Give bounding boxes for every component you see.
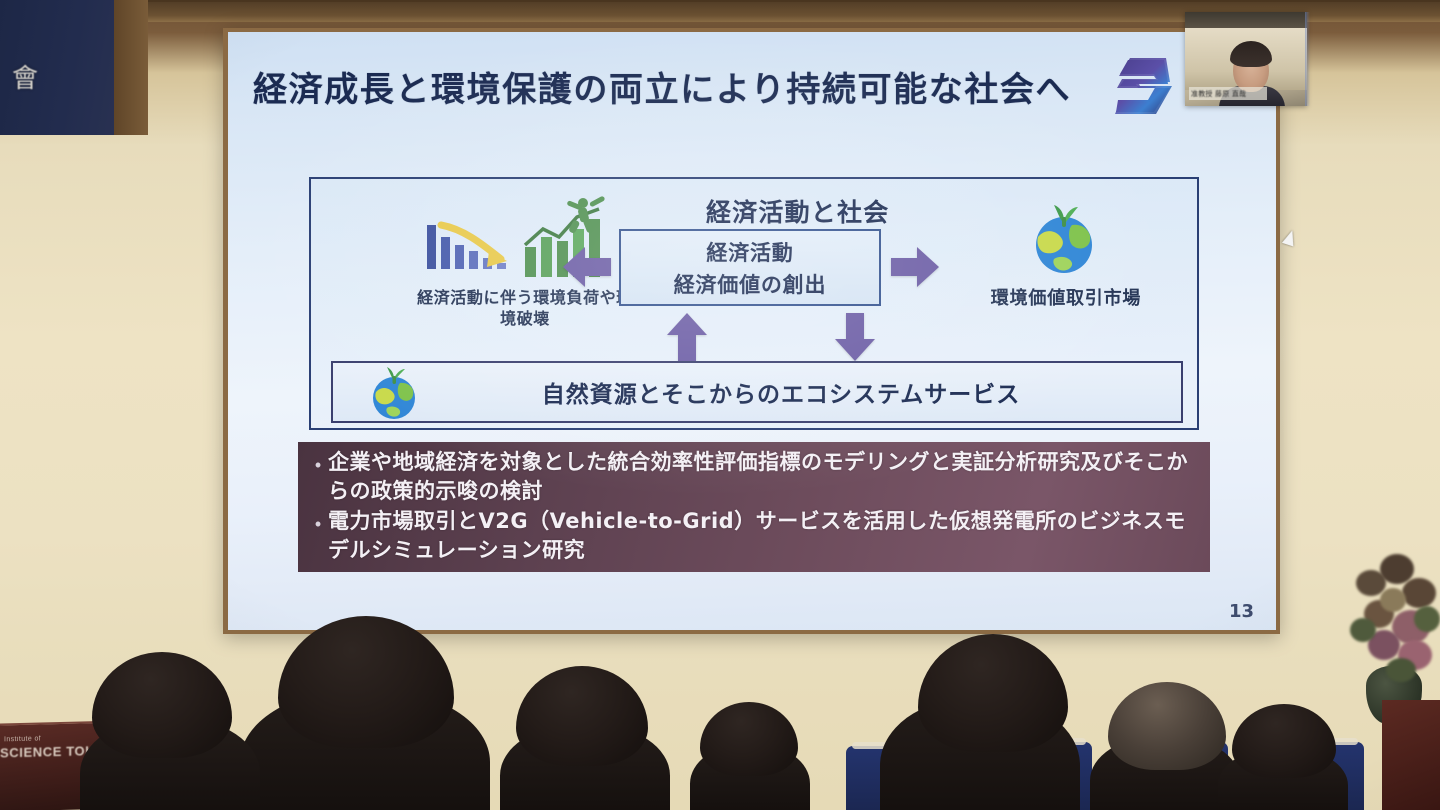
audience-head (1108, 682, 1226, 770)
earth-sprout-icon (1026, 197, 1102, 277)
arrow-right-icon (889, 243, 941, 291)
audience-row (0, 620, 1440, 810)
venue-banner: 會 (0, 0, 126, 135)
diagram-section-heading: 経済活動と社会 (706, 193, 889, 229)
natural-resources-text: 自然資源とそこからのエコシステムサービス (421, 375, 1181, 409)
arrow-up-icon (663, 311, 711, 363)
bullet-marker: • (308, 507, 328, 533)
slide-title: 経済成長と環境保護の両立により持続可能な社会へ (253, 70, 1071, 110)
left-icons-caption: 経済活動に伴う環境負荷や環境破壊 (411, 287, 639, 330)
slide-page-number: 13 (1229, 601, 1254, 622)
bullet-text: 企業や地域経済を対象とした統合効率性評価指標のモデリングと実証分析研究及びそこか… (328, 448, 1198, 505)
bullet-marker: • (308, 448, 328, 474)
pip-edge-highlight (1305, 12, 1310, 106)
research-bullet-panel: • 企業や地域経済を対象とした統合効率性評価指標のモデリングと実証分析研究及びそ… (298, 442, 1210, 572)
audience-head (700, 702, 798, 776)
economic-activity-line2: 経済価値の創出 (674, 269, 827, 299)
pip-name-label: 准教授 藤原 直哉 (1189, 87, 1267, 100)
arrow-down-icon (831, 311, 879, 363)
audience-head (1232, 704, 1336, 778)
presentation-slide: 経済成長と環境保護の両立により持続可能な社会へ 経済活動と社会 (228, 32, 1276, 630)
venue-banner-text: 會 (12, 58, 40, 95)
wall-seam (0, 0, 1440, 2)
diagram-container: 経済活動と社会 (309, 177, 1199, 430)
declining-bar-chart-icon (423, 217, 515, 279)
s-brand-logo (1114, 54, 1176, 118)
presentation-photo-scene: 會 経済成長と環境保護の両立により持続可能な社会へ (0, 0, 1440, 810)
audience-head (516, 666, 648, 766)
list-item: • 企業や地域経済を対象とした統合効率性評価指標のモデリングと実証分析研究及びそ… (308, 448, 1198, 505)
audience-head (92, 652, 232, 758)
natural-resources-bar: 自然資源とそこからのエコシステムサービス (331, 361, 1183, 423)
webcam-pip-overlay[interactable]: 准教授 藤原 直哉 (1185, 12, 1307, 106)
bullet-text: 電力市場取引とV2G（Vehicle-to-Grid）サービスを活用した仮想発電… (328, 507, 1198, 564)
economic-activity-line1: 経済活動 (706, 237, 793, 267)
pip-background-strip (1185, 12, 1307, 28)
earth-sprout-icon-small (367, 363, 421, 421)
right-icon-caption: 環境価値取引市場 (971, 284, 1161, 310)
economic-activity-box: 経済活動 経済価値の創出 (619, 229, 881, 306)
audience-head (918, 634, 1068, 752)
arrow-left-icon (561, 243, 613, 291)
list-item: • 電力市場取引とV2G（Vehicle-to-Grid）サービスを活用した仮想… (308, 507, 1198, 564)
pip-name-text: 准教授 藤原 直哉 (1191, 89, 1246, 99)
audience-head (278, 616, 454, 748)
